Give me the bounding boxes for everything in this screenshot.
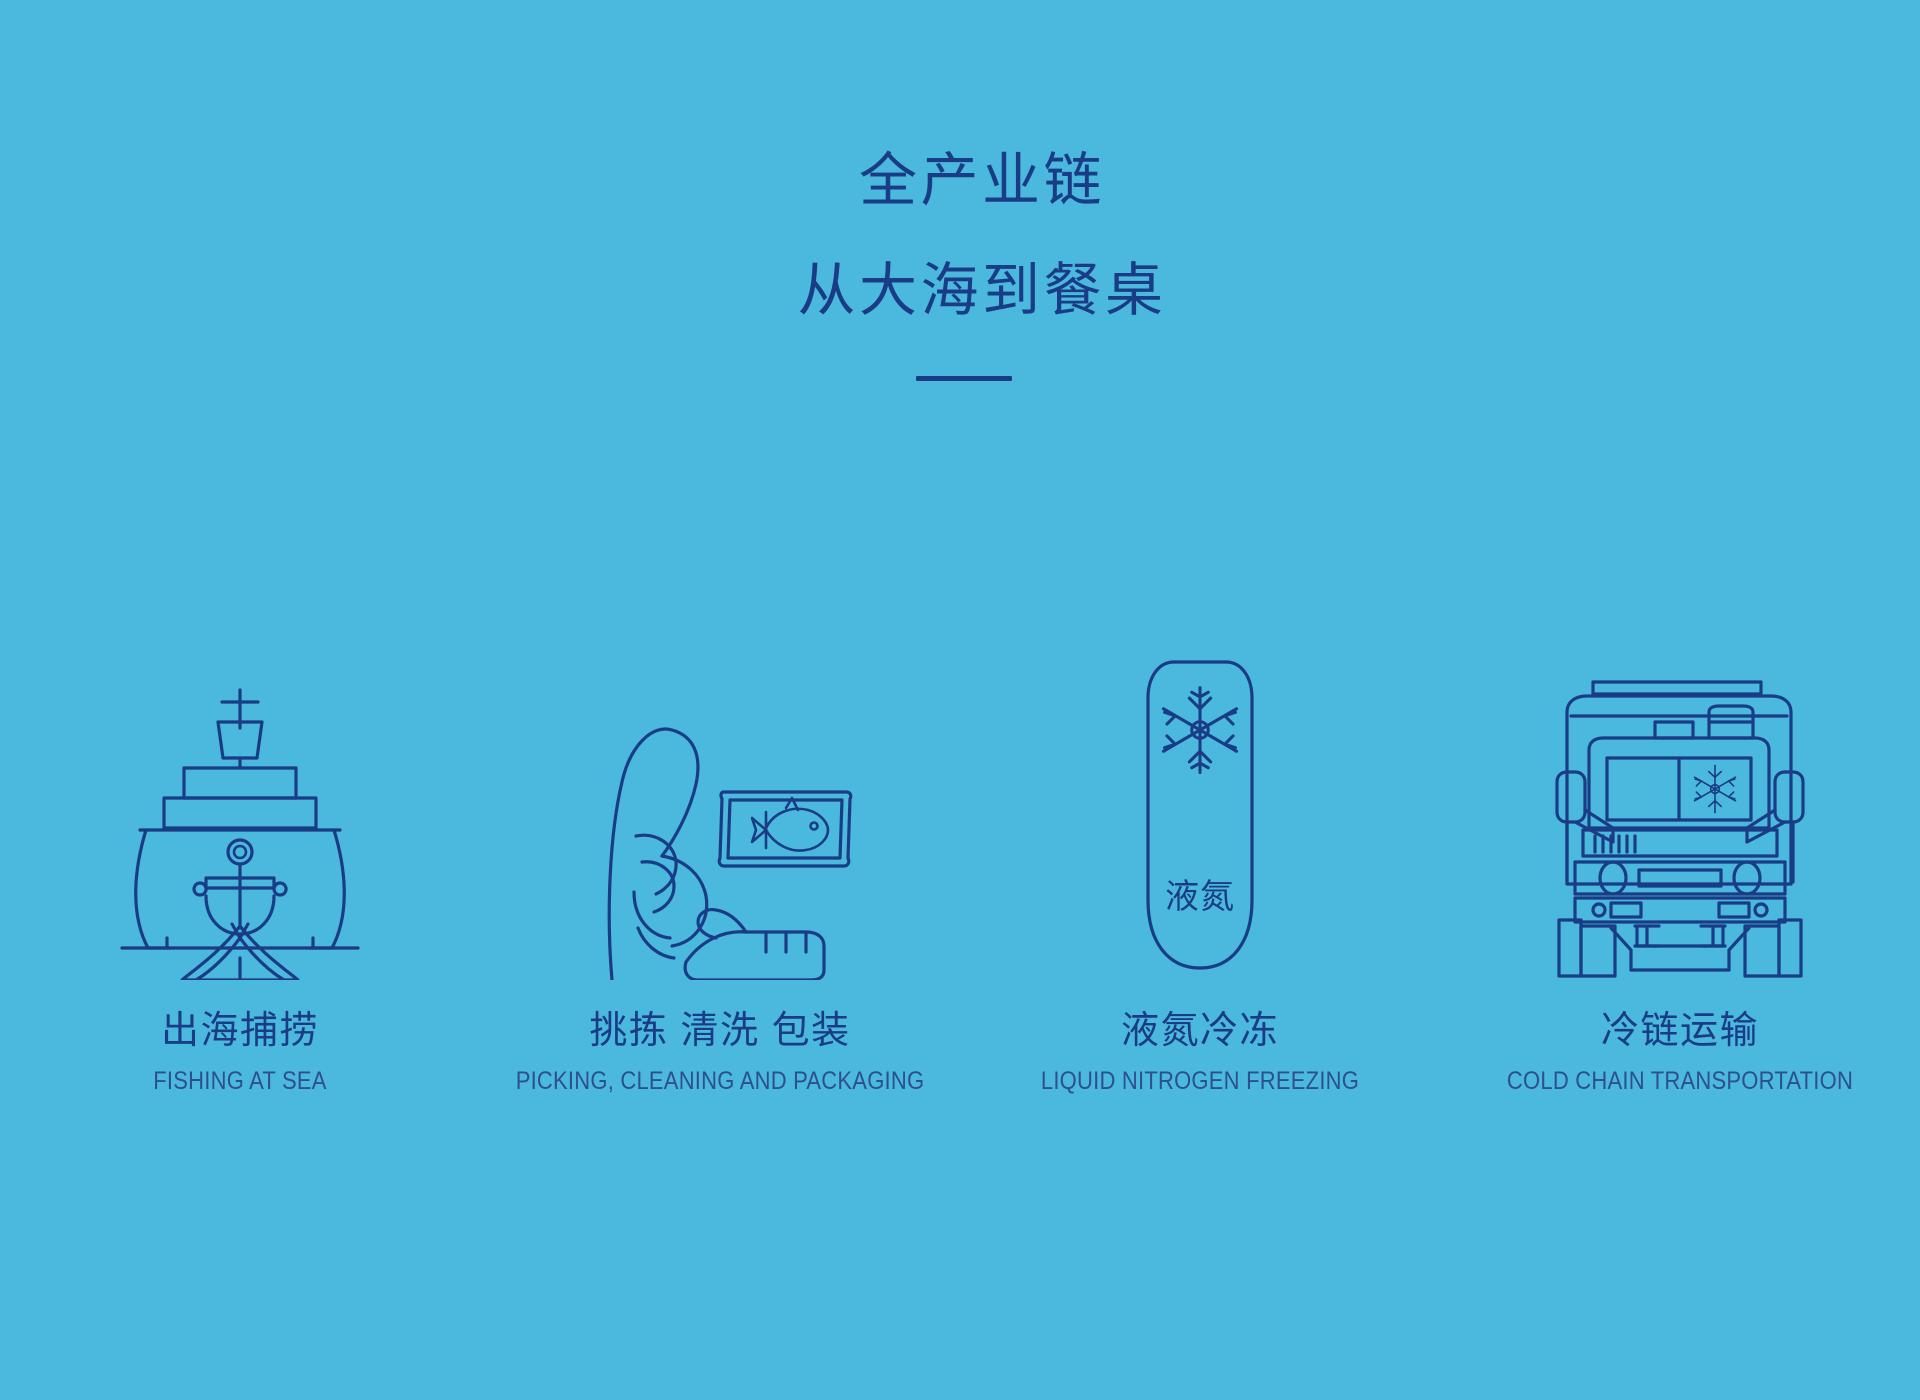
- page-title-line-1: 全产业链: [44, 152, 1920, 210]
- hands-fish-package-icon: [570, 680, 870, 980]
- label-cell-fishing-at-sea: 出海捕捞 FISHING AT SEA: [0, 1010, 480, 1095]
- step-label-cn: 挑拣 清洗 包装: [480, 1010, 960, 1054]
- process-steps-icons: 液氮: [0, 520, 1920, 980]
- step-label-cn: 液氮冷冻: [960, 1010, 1440, 1054]
- step-fishing-at-sea[interactable]: [0, 520, 480, 980]
- step-label-en: COLD CHAIN TRANSPORTATION: [1469, 1068, 1891, 1096]
- fishing-boat-icon: [110, 680, 370, 980]
- fish-package-icon: [719, 792, 851, 866]
- process-steps-labels: 出海捕捞 FISHING AT SEA 挑拣 清洗 包装 PICKING, CL…: [0, 1010, 1920, 1095]
- page-title-line-2: 从大海到餐桌: [44, 262, 1920, 320]
- step-label-cn: 冷链运输: [1440, 1010, 1920, 1054]
- refrigerated-truck-icon: [1545, 670, 1815, 980]
- title-divider: [916, 376, 1012, 381]
- tank-label-text: 液氮: [1165, 878, 1235, 916]
- step-label-en: PICKING, CLEANING AND PACKAGING: [509, 1068, 931, 1096]
- step-liquid-nitrogen-freezing[interactable]: 液氮: [960, 520, 1440, 980]
- step-picking-cleaning-packaging[interactable]: [480, 520, 960, 980]
- step-label-en: LIQUID NITROGEN FREEZING: [989, 1068, 1411, 1096]
- label-cell-cold-chain-transportation: 冷链运输 COLD CHAIN TRANSPORTATION: [1440, 1010, 1920, 1095]
- heading-block: 全产业链 从大海到餐桌: [0, 152, 1920, 381]
- liquid-nitrogen-tank-icon: 液氮: [1130, 650, 1270, 980]
- anchor-icon: [194, 840, 286, 938]
- snowflake-icon: [1695, 765, 1736, 812]
- step-label-en: FISHING AT SEA: [29, 1068, 451, 1096]
- step-cold-chain-transportation[interactable]: [1440, 520, 1920, 980]
- step-label-cn: 出海捕捞: [0, 1010, 480, 1054]
- label-cell-picking-cleaning-packaging: 挑拣 清洗 包装 PICKING, CLEANING AND PACKAGING: [480, 1010, 960, 1095]
- label-cell-liquid-nitrogen-freezing: 液氮冷冻 LIQUID NITROGEN FREEZING: [960, 1010, 1440, 1095]
- snowflake-icon: [1163, 688, 1236, 773]
- page-root: 全产业链 从大海到餐桌: [0, 0, 1920, 1400]
